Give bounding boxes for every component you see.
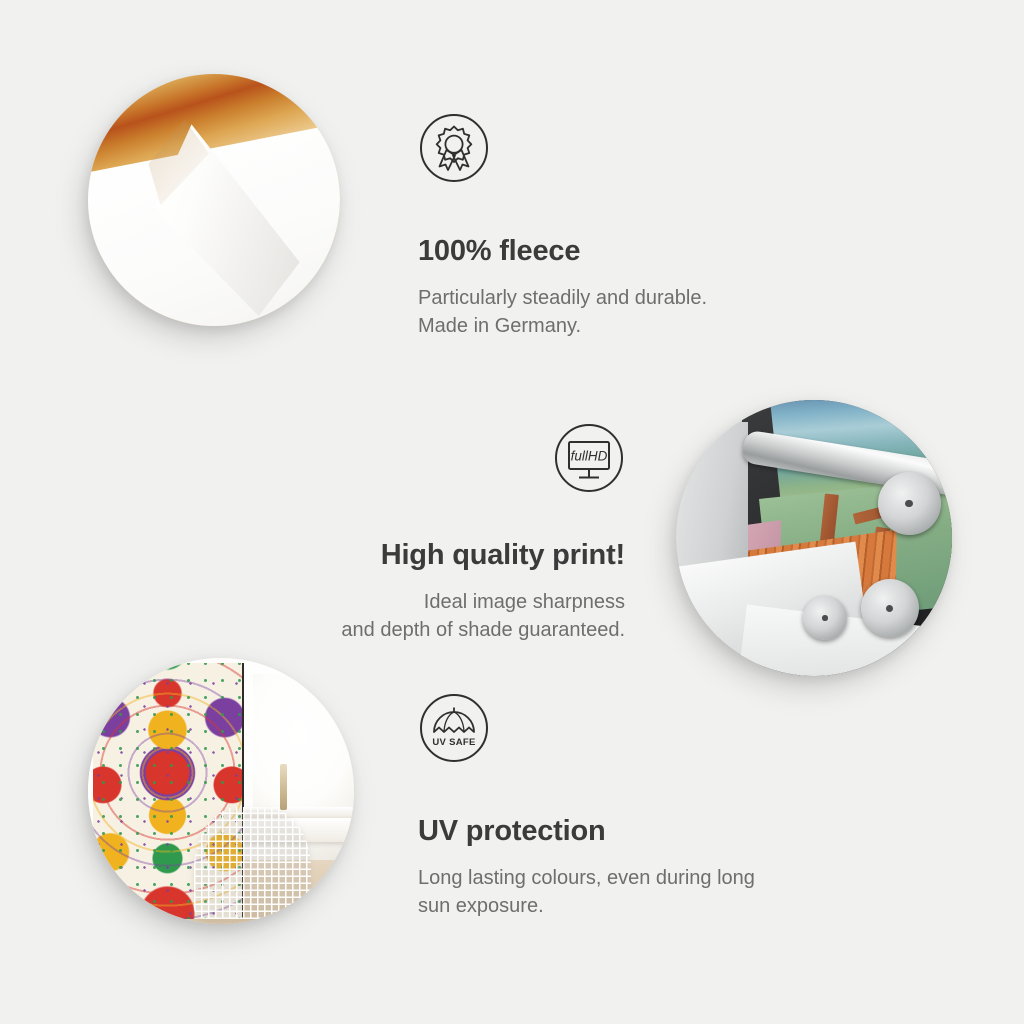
full-hd-label: fullHD [571,449,608,464]
uv-safe-umbrella-icon: UV SAFE [418,692,490,764]
full-hd-monitor-icon: fullHD [553,422,625,494]
feature-block-uv: UV SAFE UV protection Long lasting colou… [418,692,755,921]
wire-chair [194,807,311,919]
feature-description-fleece: Particularly steadily and durable. Made … [418,284,707,341]
icon-wrap [418,112,707,184]
peeling-wallpaper-corner-photo [88,74,340,326]
feature-title-fleece: 100% fleece [418,236,707,268]
large-format-printer-photo [676,400,952,676]
icon-wrap: UV SAFE [418,692,755,764]
feature-block-fleece: 100% fleece Particularly steadily and du… [418,112,707,341]
photo-inner [88,658,354,924]
infographic-canvas: 100% fleece Particularly steadily and du… [0,0,1024,1024]
photo-inner [676,400,952,676]
printer-wheel-lower [861,579,919,637]
feature-description-print: Ideal image sharpness and depth of shade… [265,588,625,645]
candle-holder [280,764,288,809]
feature-title-print: High quality print! [265,540,625,572]
icon-wrap: fullHD [265,422,625,494]
room-window [253,674,354,823]
award-ribbon-icon [418,112,490,184]
feature-block-print: fullHD High quality print! Ideal image s… [265,422,625,645]
printer-wheel-upper [878,472,941,535]
feature-description-uv: Long lasting colours, even during long s… [418,864,755,921]
uv-safe-label: UV SAFE [432,737,475,748]
mandala-wallpaper-room-photo [88,658,354,924]
photo-inner [88,74,340,326]
printer-wheel-center [803,596,847,640]
feature-title-uv: UV protection [418,816,755,848]
